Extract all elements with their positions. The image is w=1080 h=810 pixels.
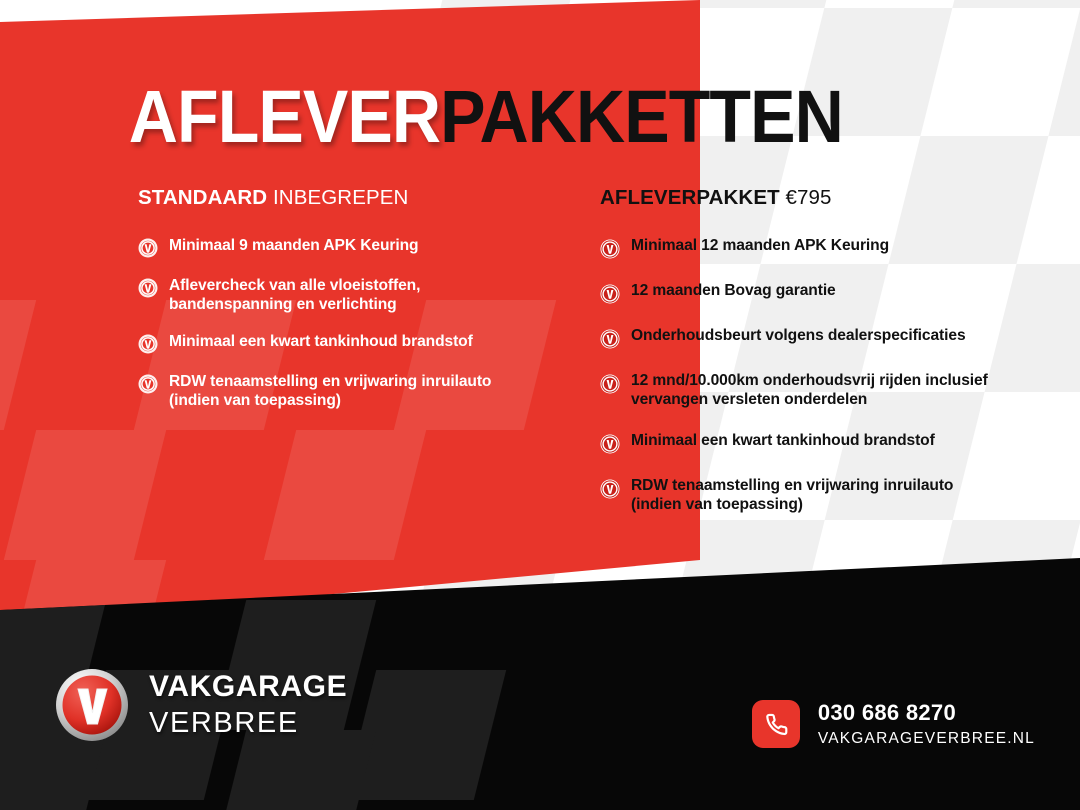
right-column: AFLEVERPAKKET €795 Minimaal 12 maanden A…	[600, 186, 1000, 536]
left-bullet-list: Minimaal 9 maanden APK KeuringAfleverche…	[138, 236, 538, 410]
list-item-label: Minimaal een kwart tankinhoud brandstof	[169, 332, 473, 351]
brand-line-2: VERBREE	[149, 709, 347, 738]
right-bullet-list: Minimaal 12 maanden APK Keuring12 maande…	[600, 236, 1000, 514]
list-item-label: Onderhoudsbeurt volgens dealerspecificat…	[631, 326, 966, 345]
left-heading-strong: STANDAARD	[138, 186, 267, 209]
right-heading-price: €795	[786, 186, 832, 209]
list-item-label: 12 maanden Bovag garantie	[631, 281, 836, 300]
list-item-label: Minimaal 12 maanden APK Keuring	[631, 236, 889, 255]
list-item: Minimaal een kwart tankinhoud brandstof	[138, 332, 538, 354]
title-word-pakketten: PAKKETTEN	[440, 75, 843, 158]
list-item-label: 12 mnd/10.000km onderhoudsvrij rijden in…	[631, 371, 1000, 409]
check-v-badge-icon	[600, 329, 620, 349]
brand-line-1: VAKGARAGE	[149, 672, 347, 702]
check-v-badge-icon	[600, 284, 620, 304]
check-v-badge-icon	[138, 374, 158, 394]
list-item-label: RDW tenaamstelling en vrijwaring inruila…	[169, 372, 538, 410]
contact-details: 030 686 8270 VAKGARAGEVERBREE.NL	[818, 702, 1035, 747]
list-item: RDW tenaamstelling en vrijwaring inruila…	[138, 372, 538, 410]
left-heading-light: INBEGREPEN	[273, 186, 408, 209]
right-column-heading: AFLEVERPAKKET €795	[600, 186, 1000, 210]
list-item: Minimaal een kwart tankinhoud brandstof	[600, 431, 1000, 454]
list-item: Minimaal 9 maanden APK Keuring	[138, 236, 538, 258]
phone-number[interactable]: 030 686 8270	[818, 702, 1035, 724]
list-item: RDW tenaamstelling en vrijwaring inruila…	[600, 476, 1000, 514]
list-item: 12 maanden Bovag garantie	[600, 281, 1000, 304]
page-title: AFLEVERPAKKETTEN	[0, 78, 994, 156]
brand-name: VAKGARAGE VERBREE	[149, 672, 347, 738]
check-v-badge-icon	[600, 374, 620, 394]
brand-logo: VAKGARAGE VERBREE	[55, 668, 347, 742]
list-item-label: Minimaal 9 maanden APK Keuring	[169, 236, 418, 255]
list-item-label: Minimaal een kwart tankinhoud brandstof	[631, 431, 935, 450]
check-v-badge-icon	[138, 334, 158, 354]
left-column: STANDAARD INBEGREPEN Minimaal 9 maanden …	[138, 186, 538, 428]
phone-icon[interactable]	[752, 700, 800, 748]
left-column-heading: STANDAARD INBEGREPEN	[138, 186, 538, 210]
list-item: 12 mnd/10.000km onderhoudsvrij rijden in…	[600, 371, 1000, 409]
list-item-label: RDW tenaamstelling en vrijwaring inruila…	[631, 476, 1000, 514]
title-word-aflever: AFLEVER	[129, 75, 440, 158]
check-v-badge-icon	[600, 479, 620, 499]
website-url[interactable]: VAKGARAGEVERBREE.NL	[818, 731, 1035, 747]
right-heading-strong: AFLEVERPAKKET	[600, 186, 780, 209]
list-item-label: Aflevercheck van alle vloeistoffen, band…	[169, 276, 538, 314]
list-item: Aflevercheck van alle vloeistoffen, band…	[138, 276, 538, 314]
list-item: Onderhoudsbeurt volgens dealerspecificat…	[600, 326, 1000, 349]
check-v-badge-icon	[600, 239, 620, 259]
check-v-badge-icon	[600, 434, 620, 454]
poster-canvas: AFLEVERPAKKETTEN STANDAARD INBEGREPEN Mi…	[0, 0, 1080, 810]
contact-block[interactable]: 030 686 8270 VAKGARAGEVERBREE.NL	[752, 700, 1035, 748]
check-v-badge-icon	[138, 278, 158, 298]
check-v-badge-icon	[138, 238, 158, 258]
vakgarage-v-logo-icon	[55, 668, 129, 742]
list-item: Minimaal 12 maanden APK Keuring	[600, 236, 1000, 259]
